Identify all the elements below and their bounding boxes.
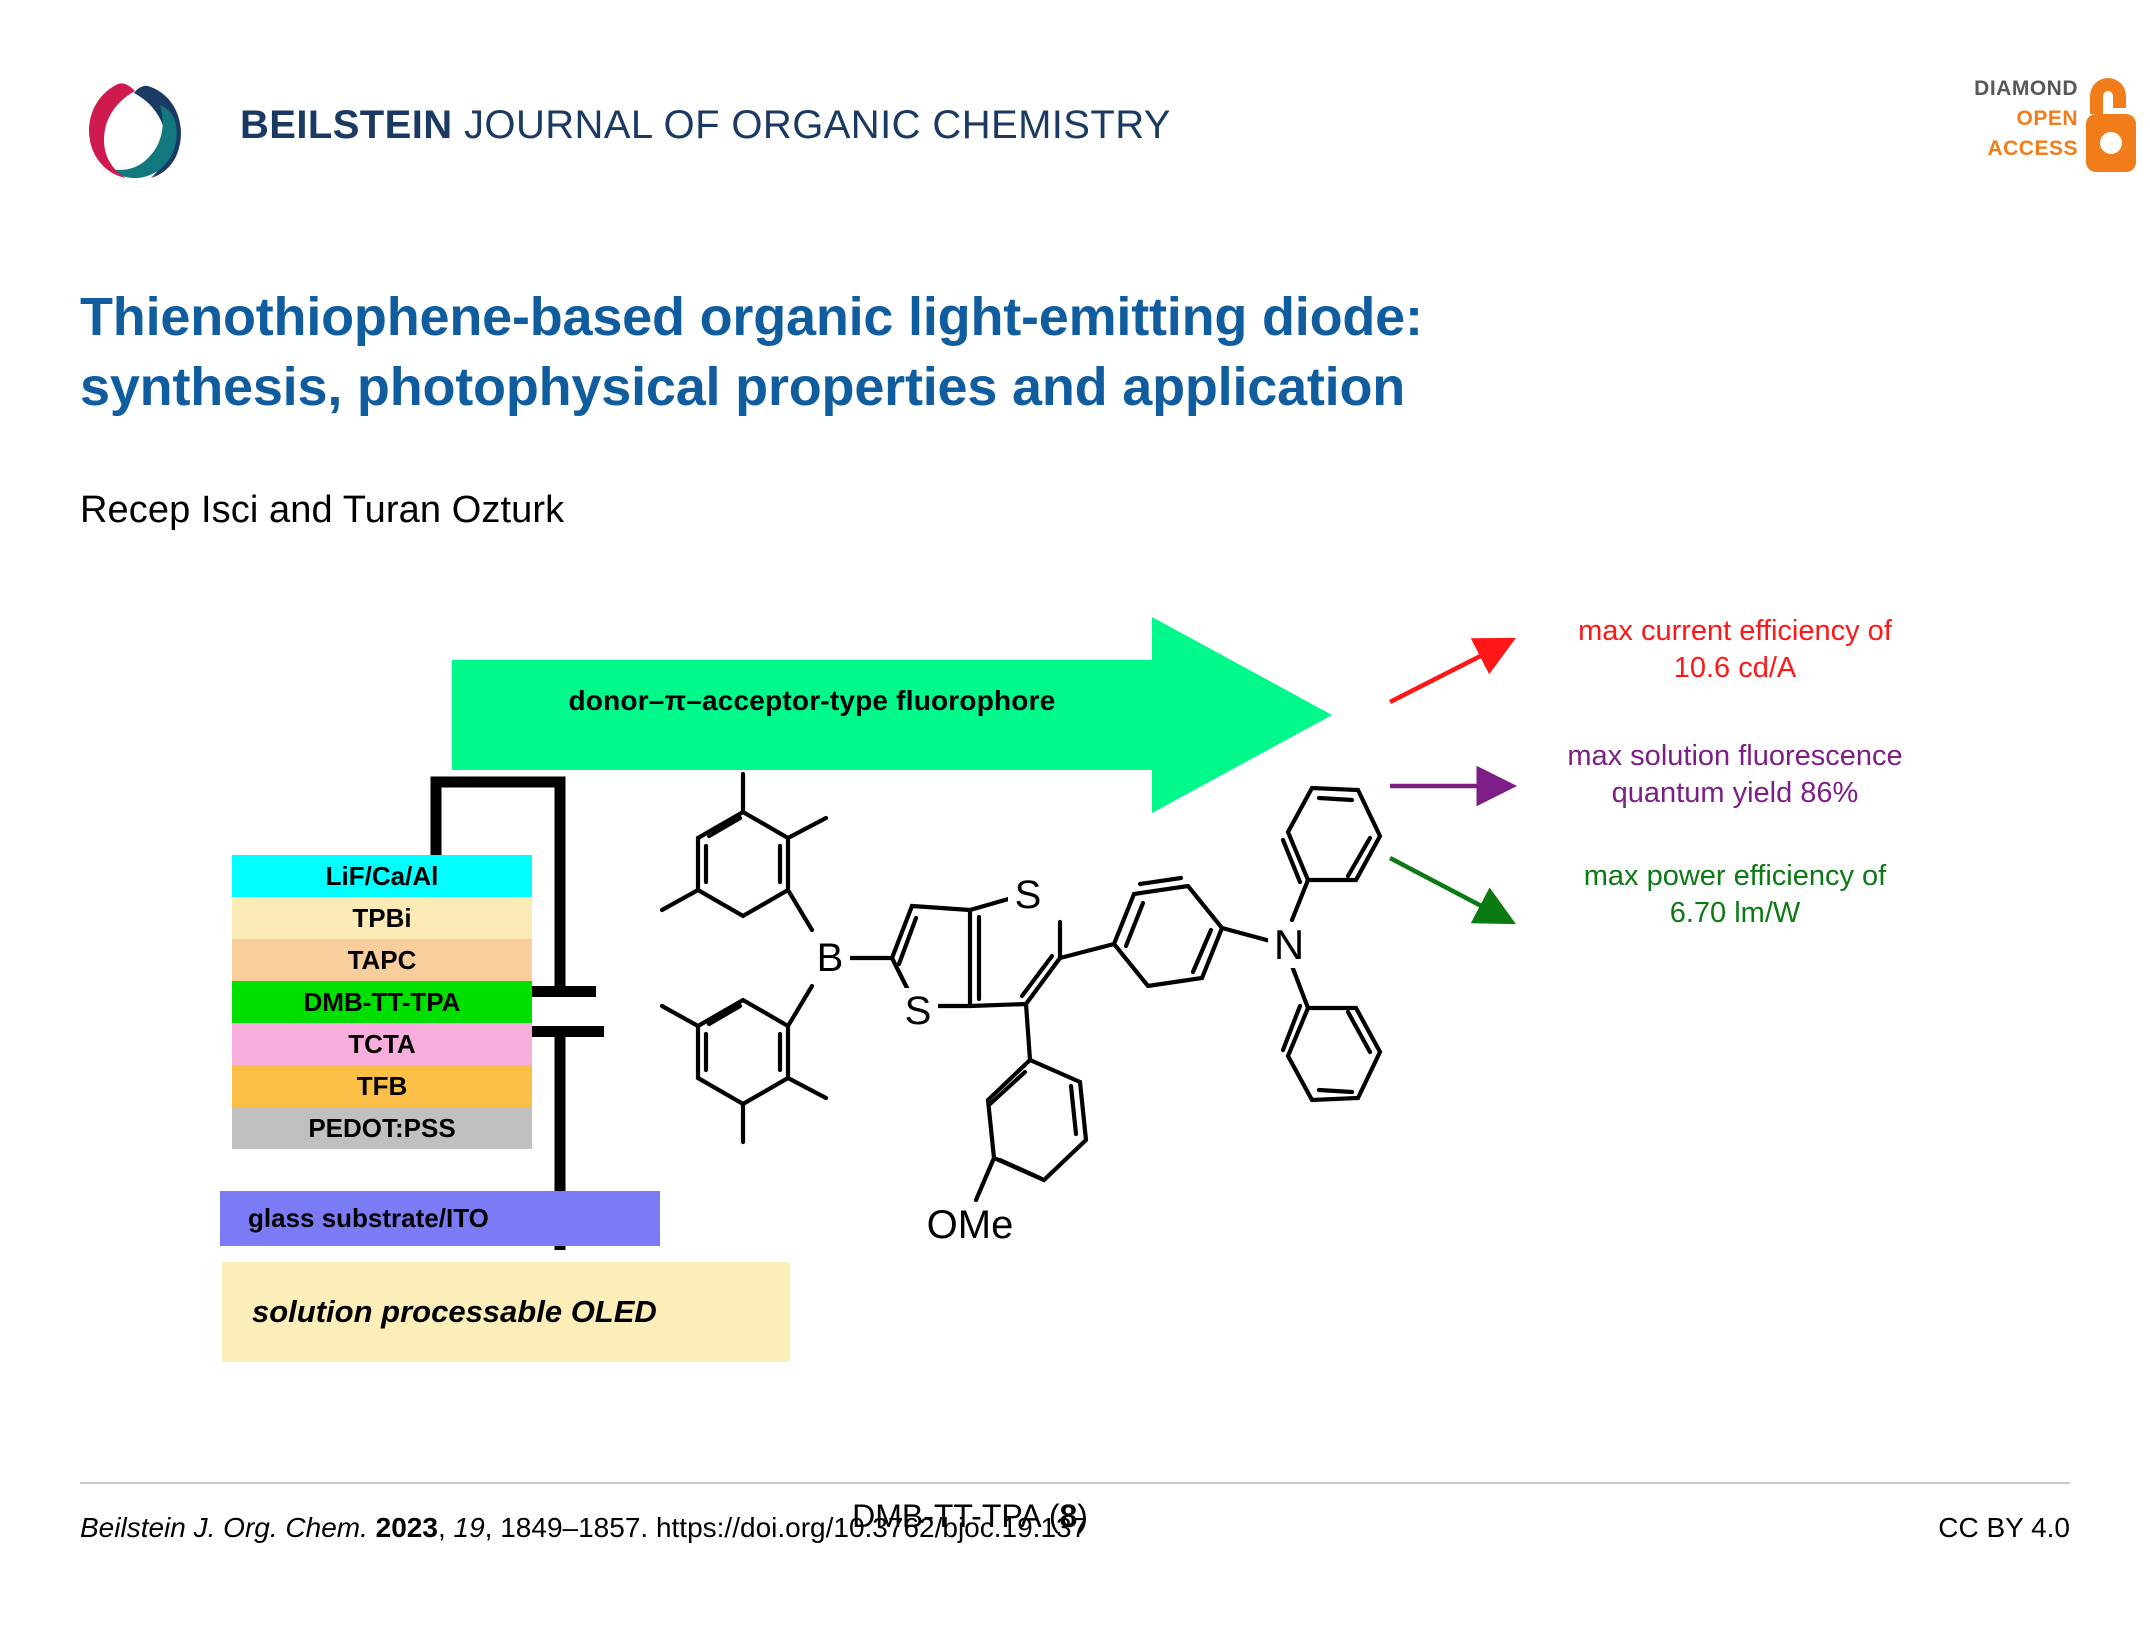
graphical-abstract: donor–π–acceptor-type fluorophore LiF/Ca… — [0, 590, 2150, 1460]
oled-layer-tcta: TCTA — [232, 1023, 532, 1065]
page-title: Thienothiophene-based organic light-emit… — [80, 282, 1840, 422]
footer-pages: 1849–1857. — [500, 1512, 648, 1543]
authors: Recep Isci and Turan Ozturk — [80, 489, 564, 532]
oled-layer-tfb: TFB — [232, 1065, 532, 1107]
oled-layer-pedot-pss: PEDOT:PSS — [232, 1107, 532, 1149]
oa-open-label: OPEN — [1958, 104, 2078, 134]
oled-layer-tapc: TAPC — [232, 939, 532, 981]
atom-label-sulfur-bottom: S — [905, 989, 932, 1033]
callout-max-current-efficiency: max current efficiency of 10.6 cd/A — [1520, 613, 1950, 686]
donor-acceptor-arrow-label: donor–π–acceptor-type fluorophore — [452, 685, 1172, 717]
footer-volume: 19 — [454, 1512, 485, 1543]
callout-current-line2: 10.6 cd/A — [1520, 650, 1950, 687]
dmb-tt-tpa-structure: B S S N OMe — [640, 760, 1460, 1480]
oa-diamond-label: DIAMOND — [1958, 74, 2078, 104]
oled-layer-tpbi: TPBi — [232, 897, 532, 939]
page-title-line1: Thienothiophene-based organic light-emit… — [80, 282, 1840, 352]
beilstein-swirl-logo — [78, 78, 190, 182]
footer-citation: Beilstein J. Org. Chem. 2023, 19, 1849–1… — [80, 1512, 1087, 1544]
callout-quantum-line1: max solution fluorescence — [1520, 738, 1950, 775]
footer-doi[interactable]: https://doi.org/10.3762/bjoc.19.137 — [656, 1512, 1087, 1543]
atom-label-sulfur-top: S — [1015, 873, 1042, 917]
journal-title-rest: JOURNAL OF ORGANIC CHEMISTRY — [453, 103, 1171, 147]
journal-title: BEILSTEIN JOURNAL OF ORGANIC CHEMISTRY — [240, 103, 1171, 148]
callout-power-line1: max power efficiency of — [1520, 858, 1950, 895]
footer-divider — [80, 1482, 2070, 1484]
footer-year: 2023 — [376, 1512, 438, 1543]
oled-layer-glass-substrate-ito: glass substrate/ITO — [220, 1191, 660, 1246]
page-title-line2: synthesis, photophysical properties and … — [80, 352, 1840, 422]
callout-max-quantum-yield: max solution fluorescence quantum yield … — [1520, 738, 1950, 811]
oled-layer-dmb-tt-tpa: DMB-TT-TPA — [232, 981, 532, 1023]
footer-journal-abbrev: Beilstein J. Org. Chem. — [80, 1512, 368, 1543]
callout-power-line2: 6.70 lm/W — [1520, 895, 1950, 932]
journal-title-bold: BEILSTEIN — [240, 103, 453, 147]
callout-max-power-efficiency: max power efficiency of 6.70 lm/W — [1520, 858, 1950, 931]
atom-label-boron: B — [817, 936, 844, 980]
footer-license: CC BY 4.0 — [1938, 1512, 2070, 1544]
arrow-to-current-efficiency — [1390, 642, 1508, 702]
open-padlock-icon — [2080, 70, 2142, 176]
oled-device-stack: LiF/Ca/AlTPBiTAPCDMB-TT-TPATCTATFBPEDOT:… — [232, 855, 532, 1149]
oa-access-label: ACCESS — [1958, 134, 2078, 164]
arrow-to-power-efficiency — [1390, 858, 1508, 920]
callout-current-line1: max current efficiency of — [1520, 613, 1950, 650]
masthead: BEILSTEIN JOURNAL OF ORGANIC CHEMISTRY D… — [0, 0, 2150, 200]
callout-quantum-line2: quantum yield 86% — [1520, 775, 1950, 812]
oled-layer-lif-ca-al: LiF/Ca/Al — [232, 855, 532, 897]
atom-label-methoxy: OMe — [927, 1203, 1014, 1247]
open-access-badge-text: DIAMOND OPEN ACCESS — [1958, 74, 2078, 163]
atom-label-nitrogen: N — [1274, 921, 1304, 968]
